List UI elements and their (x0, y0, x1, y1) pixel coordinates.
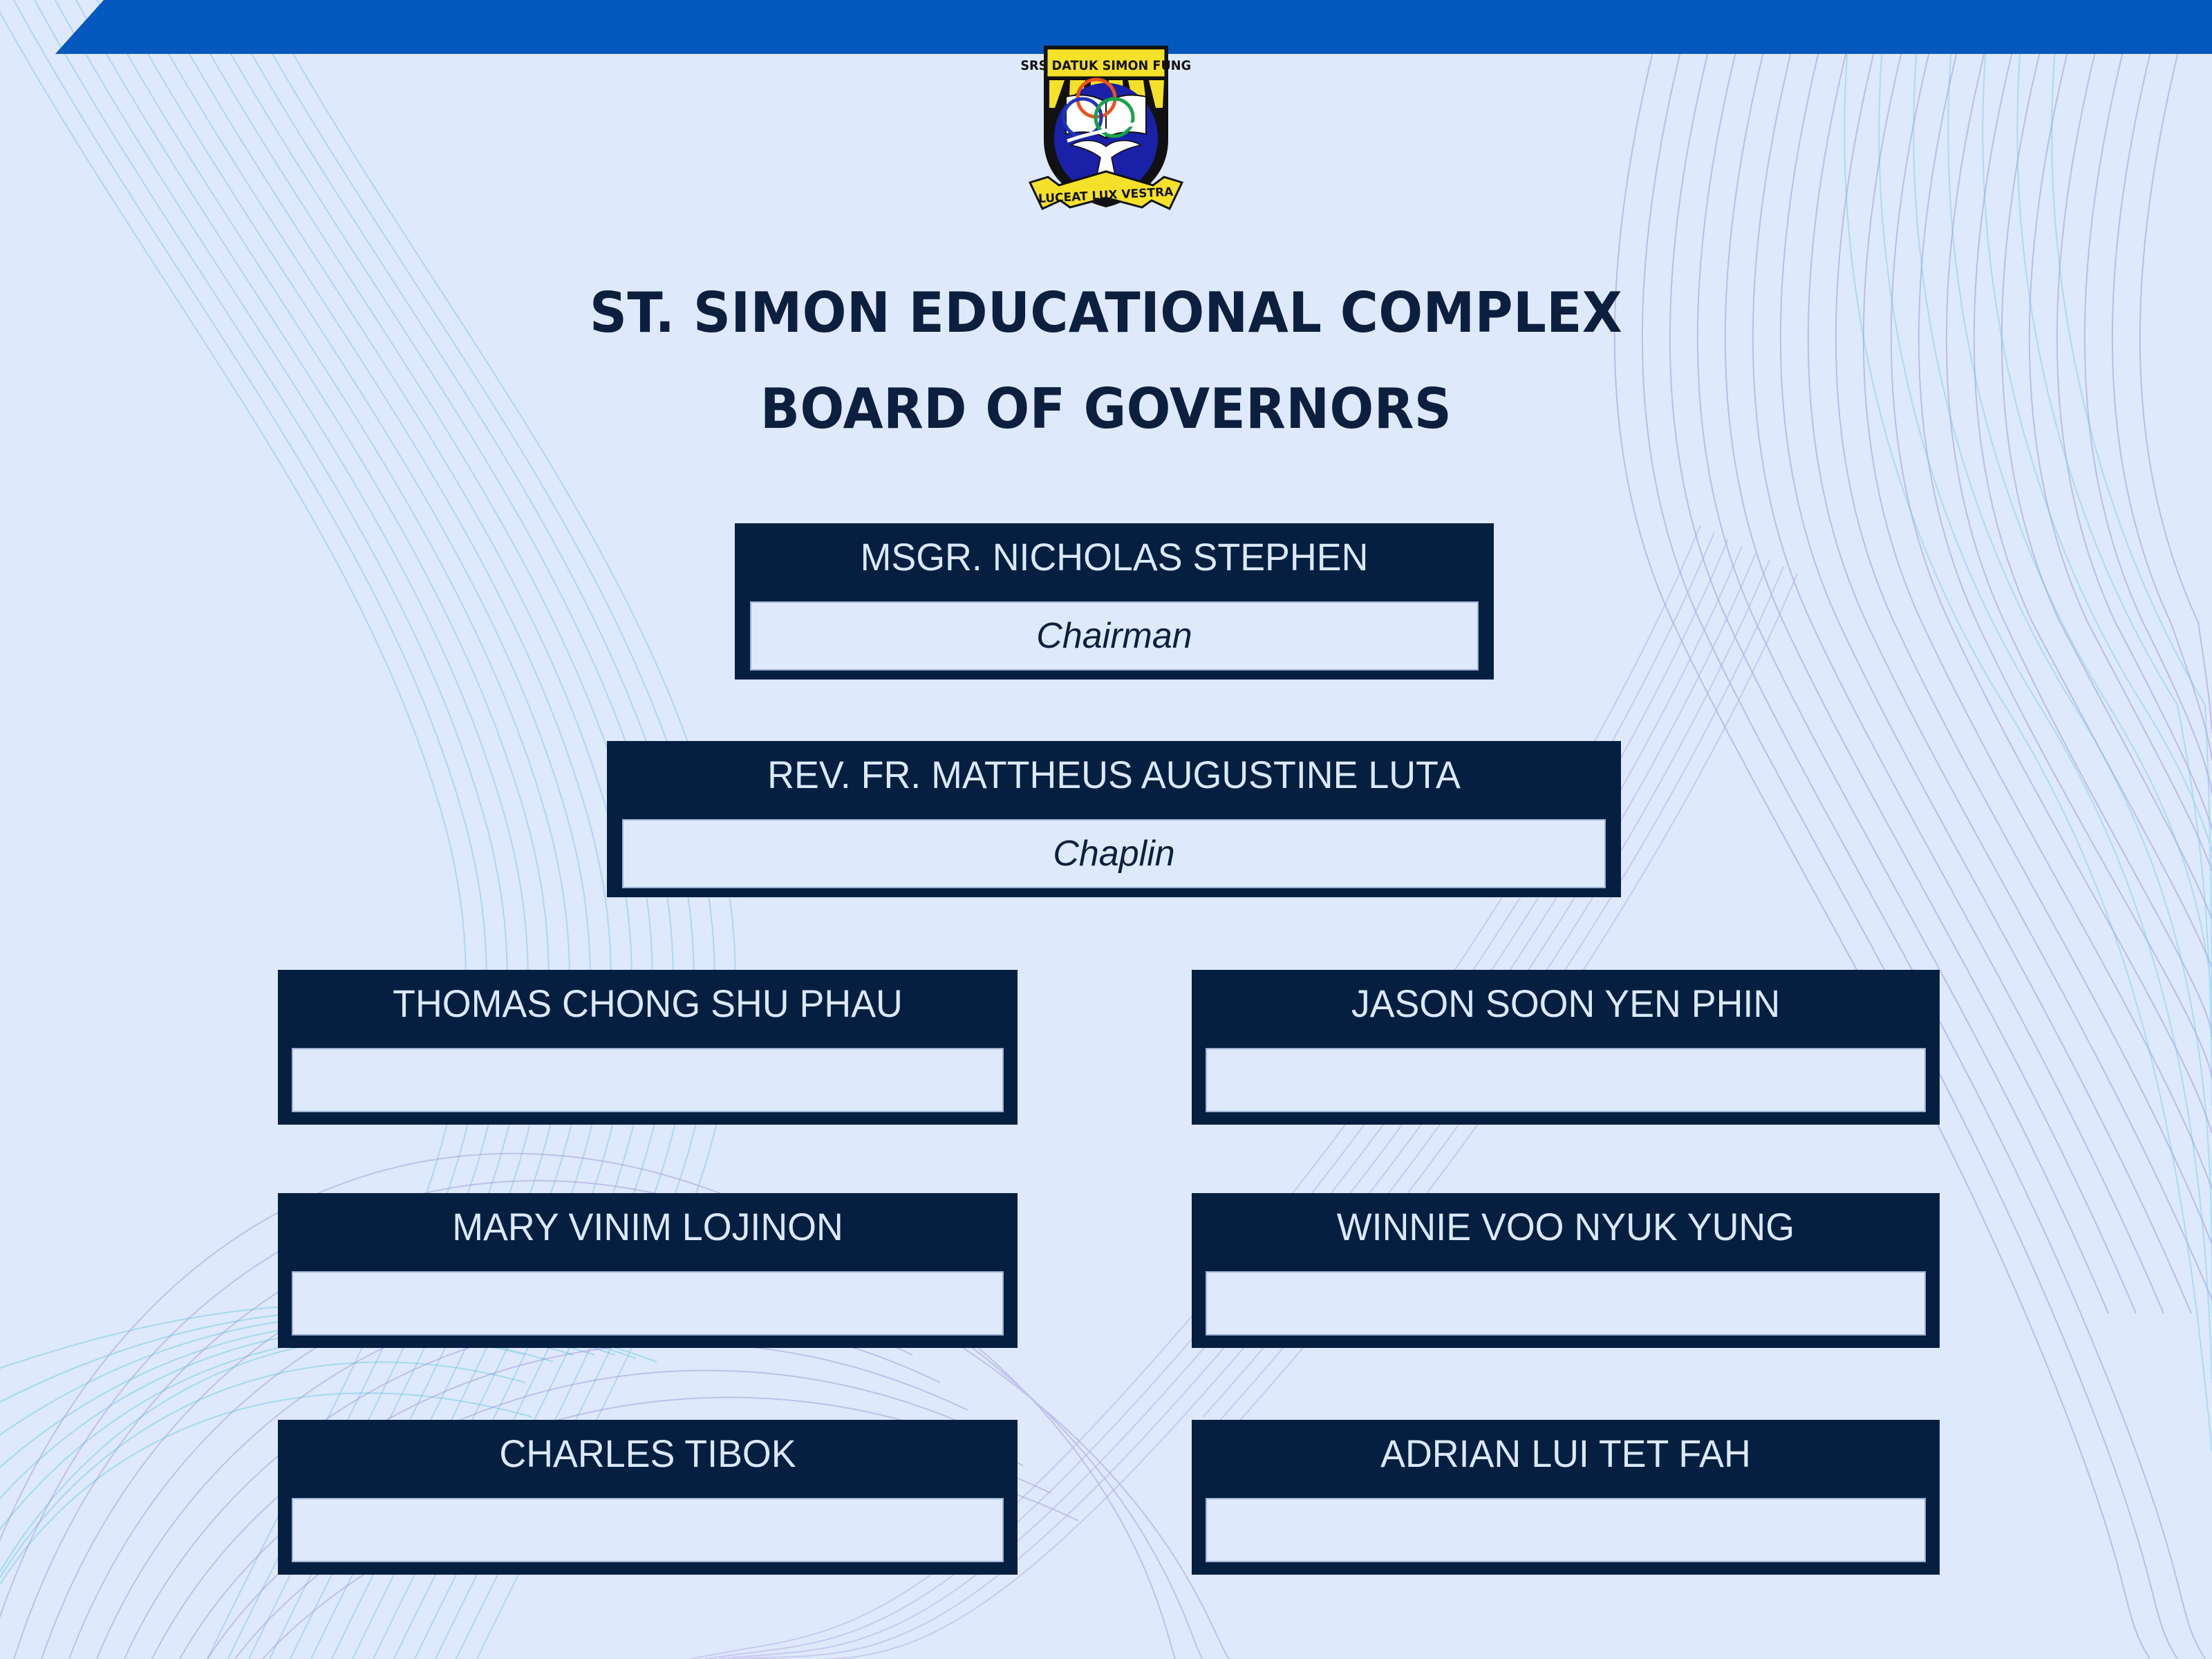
member-name: REV. FR. MATTHEUS AUGUSTINE LUTA (627, 751, 1600, 799)
member-role-box: Chairman (750, 601, 1479, 671)
board-member-card-mary-vinim-lojinon[interactable]: MARY VINIM LOJINON (278, 1193, 1018, 1348)
board-member-card-chairman[interactable]: MSGR. NICHOLAS STEPHEN Chairman (735, 523, 1494, 679)
board-member-card-adrian-lui-tet-fah[interactable]: ADRIAN LUI TET FAH (1192, 1420, 1940, 1575)
member-role: Chairman (1036, 617, 1192, 655)
board-member-card-winnie-voo-nyuk-yung[interactable]: WINNIE VOO NYUK YUNG (1192, 1193, 1940, 1348)
member-name: WINNIE VOO NYUK YUNG (1207, 1203, 1925, 1251)
member-role-box (292, 1048, 1004, 1112)
member-role-box (1206, 1271, 1926, 1335)
board-member-card-thomas-chong-shu-phau[interactable]: THOMAS CHONG SHU PHAU (278, 970, 1018, 1125)
svg-text:SRS DATUK SIMON FUNG: SRS DATUK SIMON FUNG (1020, 58, 1191, 73)
member-role: Chaplin (1053, 834, 1174, 873)
member-role-box (1206, 1048, 1926, 1112)
title-line-2: BOARD OF GOVERNORS (66, 361, 2146, 457)
member-name: ADRIAN LUI TET FAH (1207, 1430, 1925, 1478)
member-name: JASON SOON YEN PHIN (1207, 980, 1925, 1028)
board-member-card-jason-soon-yen-phin[interactable]: JASON SOON YEN PHIN (1192, 970, 1940, 1125)
board-member-card-charles-tibok[interactable]: CHARLES TIBOK (278, 1420, 1018, 1575)
member-role-box: Chaplin (622, 819, 1606, 888)
member-role-box (292, 1498, 1004, 1562)
member-name: THOMAS CHONG SHU PHAU (292, 980, 1002, 1028)
member-name: MSGR. NICHOLAS STEPHEN (750, 533, 1479, 581)
page-title: ST. SIMON EDUCATIONAL COMPLEX BOARD OF G… (0, 265, 2212, 457)
title-line-1: ST. SIMON EDUCATIONAL COMPLEX (66, 265, 2146, 361)
board-member-card-chaplin[interactable]: REV. FR. MATTHEUS AUGUSTINE LUTA Chaplin (607, 741, 1621, 897)
member-name: CHARLES TIBOK (292, 1430, 1002, 1478)
school-crest-icon: SRS DATUK SIMON FUNG LUCEAT LUX VESTRA (1020, 36, 1192, 223)
member-name: MARY VINIM LOJINON (292, 1203, 1002, 1251)
member-role-box (292, 1271, 1004, 1335)
member-role-box (1206, 1498, 1926, 1562)
